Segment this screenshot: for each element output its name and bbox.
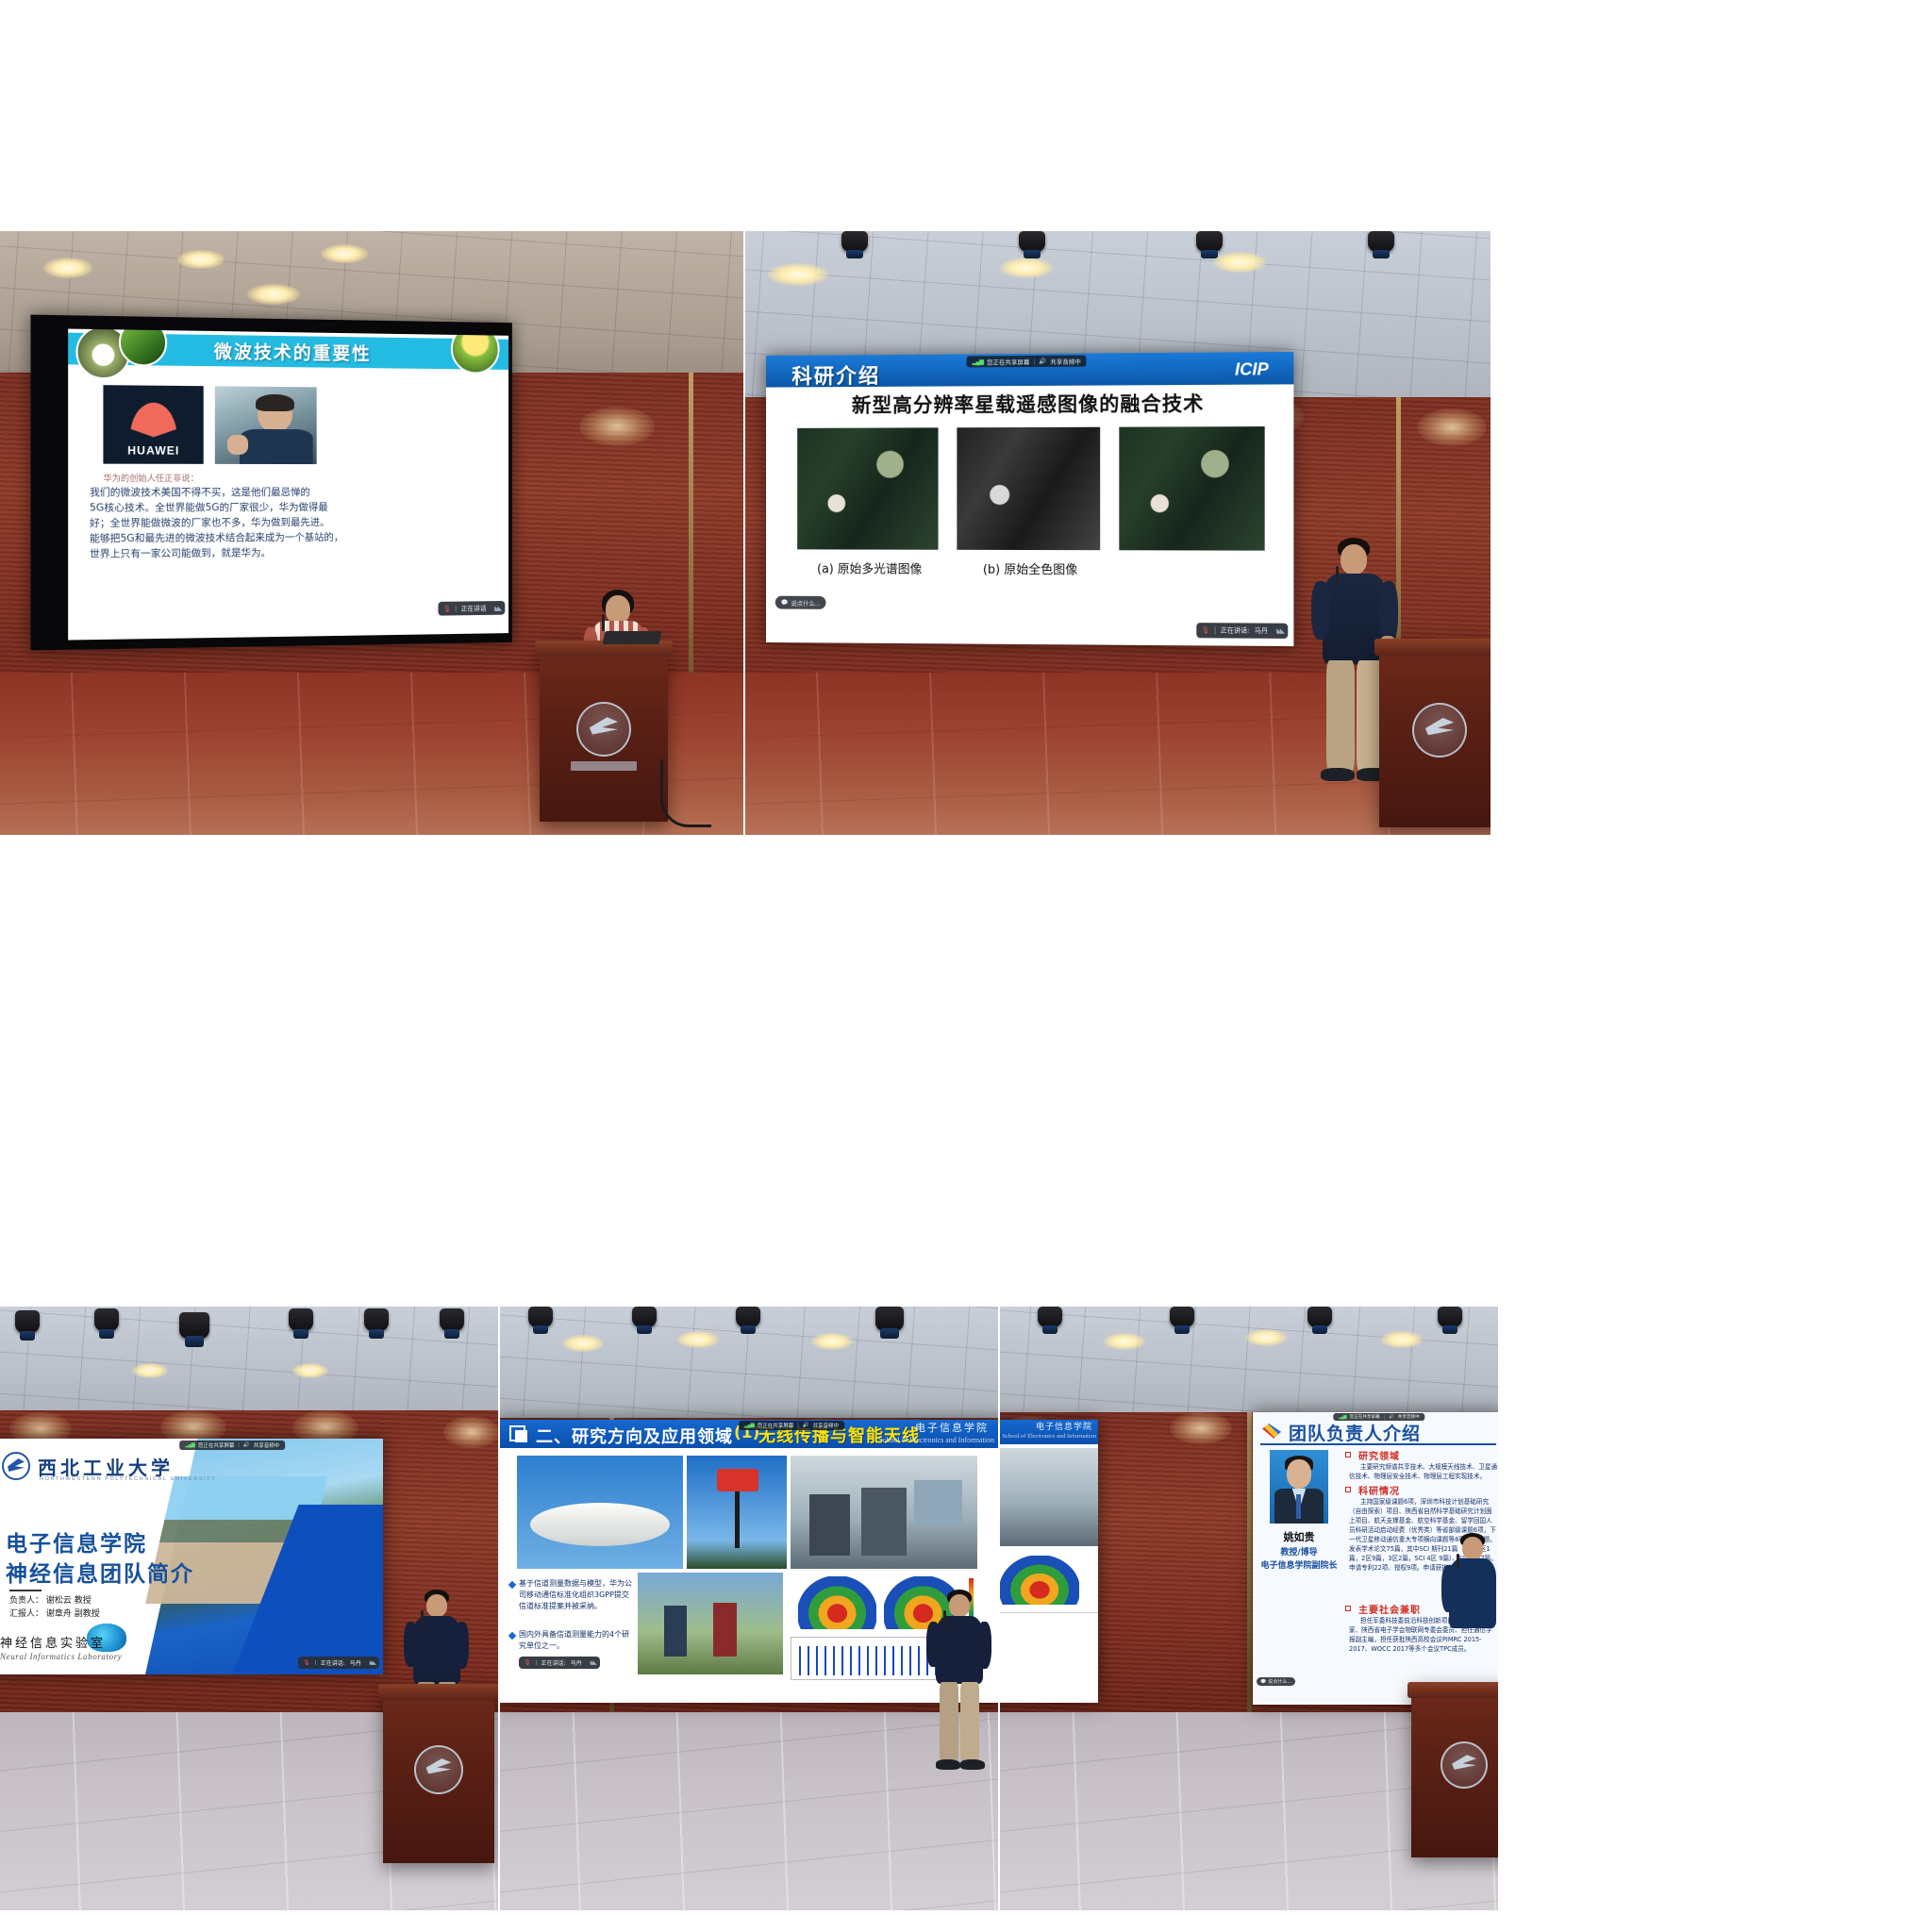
bullet-text-1: 基于信道测量数据与模型，华为公司移动通信标准化组织3GPP提交信道标准提案并被采… [519,1578,634,1612]
slide-research-directions-partial: 电子信息学院 School of Electronics and Informa… [1000,1420,1098,1703]
zoom-share-pill[interactable]: ▂▄▆ 您正在共享屏幕 | 🔊 共享音频中 [739,1421,844,1430]
stage-light-fixture [736,1307,760,1327]
leg-left [940,1682,958,1763]
share-screen-text: 您正在共享屏幕 [987,357,1029,366]
handheld-microphone [1336,566,1339,585]
spectrum-plot [1000,1612,1098,1659]
title-underline [1260,1443,1496,1445]
downlight [247,284,300,305]
audio-wave-icon: ◣◣ [494,604,500,611]
nwpu-eagle-emblem [414,1745,463,1794]
lectern [1411,1682,1498,1857]
divider: | [797,1423,798,1428]
laptop [603,631,662,644]
signal-icon: ▂▄▆ [744,1423,753,1428]
section-heading-3: 主要社会兼职 [1358,1602,1421,1616]
zoom-chat-pill[interactable]: 💬 说点什么... [1257,1677,1295,1686]
huawei-wordmark: HUAWEI [103,443,203,458]
shoe-right [960,1759,985,1770]
person-name: 姚如贵 [1258,1529,1340,1544]
chat-placeholder: 说点什么... [791,598,820,608]
portrait-head [1287,1459,1311,1489]
microphone-icon: 🎙 [524,1659,531,1666]
audio-wave-icon: ◣◣ [370,1659,375,1666]
zoom-share-pill[interactable]: ▂▄▆ 您正在共享屏幕 | 🔊 共享音频中 [967,356,1087,368]
arm-left [1441,1565,1456,1612]
downlight [132,1363,168,1378]
fused-image [1119,426,1264,551]
torso [1449,1558,1496,1628]
org-name-en: School of Electronics and Information [878,1436,994,1444]
leg-left [1326,660,1355,772]
speaker-name: 马丹 [1255,626,1268,636]
handheld-microphone [602,614,605,631]
share-audio-text: 共享音频中 [254,1441,280,1449]
figure-caption-b: (b) 原始全色图像 [953,559,1108,578]
org-name-cn: 电子信息学院 [915,1420,989,1435]
stage-light-fixture [1196,231,1223,252]
projection-screen-secondary: 电子信息学院 School of Electronics and Informa… [1000,1420,1098,1703]
screen-inner: 科研介绍 ICIP ▂▄▆ 您正在共享屏幕 | 🔊 共享音频中 新型高分辨率星载… [766,352,1293,646]
downlight [1245,1329,1287,1346]
stage-light-fixture [632,1307,657,1327]
stage-light-fixture [440,1308,464,1331]
divider: | [1384,1415,1385,1420]
share-screen-text: 您正在共享屏幕 [198,1441,235,1449]
section-bullet [1345,1487,1351,1492]
share-screen-text: 您正在共享屏幕 [758,1422,794,1429]
divider [536,1660,537,1665]
stage-light-fixture [94,1308,119,1331]
nwpu-eagle-emblem [1441,1741,1488,1789]
ribbon-icon [1262,1424,1281,1439]
panel-bottom-middle: 二、研究方向及应用领域 — (1) 无线传播与智能天线 电子信息学院 Schoo… [500,1307,998,1910]
lectern-top [1407,1682,1498,1698]
signal-icon: ▂▄▆ [973,358,984,365]
lectern [540,641,668,822]
projection-screen: 微波技术的重要性 HUAWEI [30,315,511,651]
zoom-share-pill[interactable]: ▂▄▆ 您正在共享屏幕 | 🔊 共享音频中 [180,1441,286,1450]
screen-inner: 电子信息学院 School of Electronics and Informa… [1000,1420,1098,1703]
portrait-suit [240,429,312,464]
chat-bubble-icon: 💬 [1260,1679,1266,1685]
audio-wave-icon: ◣◣ [591,1659,595,1666]
handheld-microphone [421,1610,424,1625]
portrait-tie [1296,1494,1302,1520]
panchromatic-image [957,427,1100,550]
lab-name-cn: 神经信息实验室 [0,1633,106,1651]
lectern-top [1374,639,1491,656]
handheld-microphone [943,1610,946,1625]
slide-body-paragraphs: 我们的微波技术美国不得不买，这是他们最忌惮的 5G核心技术。全世界能做5G的厂家… [90,485,496,562]
shoe-left [936,1759,960,1770]
chat-bubble-icon: 💬 [781,599,789,607]
zoom-speaker-bar[interactable]: 🎙 正在讲话: 马丹 ◣◣ [1196,623,1288,639]
arm-left [404,1622,418,1667]
section-bullet [1345,1452,1351,1457]
panel-bottom-left: 西北工业大学 NORTHWESTERN POLYTECHNICAL UNIVER… [0,1307,498,1910]
arm-left [926,1622,941,1667]
arm-left [1311,581,1330,640]
org-name-cn: 电子信息学院 [1036,1420,1092,1432]
speaker-icon: 🔊 [1039,358,1046,365]
slide-title: 新型高分辨率星载遥感图像的融合技术 [766,388,1293,419]
downlight [1213,252,1266,273]
stage-light-fixture [179,1312,209,1339]
wall-light-glow [1170,1412,1232,1444]
zoom-speaker-bar[interactable]: 🎙 正在讲话 ◣◣ [439,601,505,616]
zoom-speaker-bar[interactable]: 🎙 正在讲话: 马丹 ◣◣ [298,1657,379,1669]
bullet-marker [508,1632,516,1640]
lectern-top [378,1684,498,1700]
downlight [321,244,368,263]
speaker-name: 马丹 [571,1658,582,1667]
zoom-chat-pill[interactable]: 💬 说点什么... [775,596,826,609]
screen-inner: 西北工业大学 NORTHWESTERN POLYTECHNICAL UNIVER… [0,1439,383,1674]
divider [456,606,457,611]
stage-light-fixture [1038,1307,1062,1327]
bullet-text-2: 国内外具备信道测量能力的4个研究单位之一。 [519,1629,634,1652]
slide-team-cover: 西北工业大学 NORTHWESTERN POLYTECHNICAL UNIVER… [0,1439,383,1674]
speaker-icon: 🔊 [243,1442,250,1448]
lectern [383,1684,494,1863]
stage-light-fixture [289,1308,313,1331]
portrait-hair [256,394,294,411]
field-measurement-photo [638,1573,783,1674]
university-name-en: NORTHWESTERN POLYTECHNICAL UNIVERSITY [40,1476,216,1482]
airship-photo [517,1456,683,1569]
section-bullet [1345,1606,1351,1611]
credit-rule [9,1590,42,1591]
handheld-microphone [1457,1554,1459,1568]
divider: | [238,1442,239,1448]
divider [1214,627,1215,634]
speaker-name: 马丹 [350,1658,361,1667]
speaking-label: 正在讲话: [1221,625,1250,635]
lab-rack-2 [861,1488,907,1556]
slides-icon-shadow [515,1430,527,1442]
audio-wave-icon: ◣◣ [1276,627,1283,635]
credit-reporter: 汇报人： 谢章舟 副教授 [9,1607,100,1619]
downlight [177,250,225,269]
torso-polo [413,1616,460,1684]
panel-top-left: 微波技术的重要性 HUAWEI [0,231,743,835]
panel-bottom-right: 电子信息学院 School of Electronics and Informa… [1000,1307,1498,1910]
divider [315,1660,316,1665]
microphone-icon: 🎙 [303,1659,310,1666]
downlight [562,1335,604,1352]
projection-screen: 西北工业大学 NORTHWESTERN POLYTECHNICAL UNIVER… [0,1439,383,1674]
arm-right [977,1622,991,1669]
huawei-logo-image: HUAWEI [103,385,203,464]
slide-research-directions: 二、研究方向及应用领域 — (1) 无线传播与智能天线 电子信息学院 Schoo… [500,1420,998,1703]
stage-light-fixture [364,1308,389,1331]
zoom-speaker-bar[interactable]: 🎙 正在讲话: 马丹 ◣◣ [519,1657,600,1669]
person-field-2 [713,1603,737,1656]
person-role-1: 教授/博导 [1258,1545,1340,1557]
ren-zhengfei-photo [215,386,317,464]
wall-seam [1247,1412,1252,1763]
multispectral-image [797,427,938,549]
anechoic-lab-photo [791,1456,977,1569]
lectern-label [571,761,637,771]
slide-title-line2: 神经信息团队简介 [6,1556,194,1588]
nwpu-logo [2,1452,30,1480]
airship-body [530,1503,670,1546]
slide-header-right: ICIP [1235,359,1269,379]
section-heading-1: 研究领域 [1358,1448,1400,1462]
nwpu-eagle-emblem [1412,703,1467,758]
head [426,1594,447,1617]
shoe-left [1321,768,1355,781]
signal-icon: ▂▄▆ [186,1442,194,1448]
share-audio-text: 共享音频中 [1050,357,1081,366]
radiation-pattern-3d-plot [1000,1552,1098,1608]
slide-header-left: 科研介绍 [791,359,880,390]
presenter-male [926,1590,998,1788]
portrait-hand [227,435,248,455]
head [1462,1537,1483,1559]
head [949,1594,970,1617]
section-body-1: 主要研究频谱共享技术、大规模天线技术、卫星通信技术、物理层安全技术、物理层工程实… [1349,1462,1498,1481]
wall-light-glow [443,1416,498,1448]
microphone-icon: 🎙 [443,605,452,612]
lab-name-en: Neural Informatics Laboratory [0,1652,122,1661]
speaking-label: 正在讲话: [541,1658,566,1667]
torso-polo [936,1616,983,1684]
slide-research-intro: 科研介绍 ICIP ▂▄▆ 您正在共享屏幕 | 🔊 共享音频中 新型高分辨率星载… [766,352,1293,646]
wall-light-glow [579,407,655,446]
speaking-label: 正在讲话: [321,1658,345,1667]
downlight [677,1331,719,1348]
stage-light-fixture [528,1307,553,1327]
chat-placeholder: 说点什么... [1268,1678,1291,1685]
person-field [664,1606,688,1657]
downlight [292,1363,328,1378]
downlight [1104,1333,1145,1350]
downlight [1000,258,1053,278]
pattern-left [798,1576,876,1629]
photo-collage: 微波技术的重要性 HUAWEI [0,0,1932,1932]
lectern [1379,639,1491,827]
speaking-label: 正在讲话 [461,604,487,613]
leg-right [960,1682,979,1763]
arm-right [1379,581,1398,643]
stage-floor [500,1712,998,1910]
downlight [768,263,828,286]
stage-light-fixture [1170,1307,1194,1327]
slide-microwave-importance: 微波技术的重要性 HUAWEI [68,329,508,641]
slide-title-line1: 电子信息学院 [6,1525,147,1557]
share-audio-text: 共享音频中 [813,1422,840,1429]
panel-top-right: 科研介绍 ICIP ▂▄▆ 您正在共享屏幕 | 🔊 共享音频中 新型高分辨率星载… [745,231,1491,835]
bullet-marker [508,1581,516,1589]
anechoic-lab-photo [1000,1448,1098,1546]
screen-inner: 二、研究方向及应用领域 — (1) 无线传播与智能天线 电子信息学院 Schoo… [500,1420,998,1703]
microphone-icon: 🎙 [1201,626,1209,634]
huawei-petal-mark [124,393,183,438]
divider: | [1033,358,1035,364]
slide-header-main: 二、研究方向及应用领域 [536,1424,733,1448]
projection-screen: 科研介绍 ICIP ▂▄▆ 您正在共享屏幕 | 🔊 共享音频中 新型高分辨率星载… [766,352,1293,646]
head [1341,544,1367,575]
power-cable [660,759,711,827]
head [606,595,630,624]
stage-light-fixture [1019,231,1045,252]
slide-body-heading: 华为的创始人任正非说： [103,472,198,484]
projection-screen: 二、研究方向及应用领域 — (1) 无线传播与智能天线 电子信息学院 Schoo… [500,1420,998,1703]
speaker-icon: 🔊 [803,1423,809,1428]
stage-light-fixture [875,1307,904,1331]
antenna-head [717,1469,759,1491]
stage-light-fixture [1438,1307,1462,1327]
stage-light-fixture [841,231,868,252]
downlight [43,258,92,278]
wall-light-glow [1417,408,1487,446]
nwpu-eagle-emblem [576,702,631,757]
figure-caption-a: (a) 原始多光谱图像 [793,558,945,576]
person-role-2: 电子信息学院副院长 [1255,1558,1343,1571]
stage-light-fixture [1307,1307,1332,1327]
section-heading-2: 科研情况 [1358,1483,1400,1497]
downlight [1381,1331,1423,1348]
lab-panel [914,1480,962,1525]
antenna-mast-photo [687,1456,787,1569]
credit-owner: 负责人： 谢松云 教授 [9,1593,92,1606]
stage-light-fixture [15,1310,40,1333]
lab-rack [809,1494,851,1556]
screen-inner: 微波技术的重要性 HUAWEI [30,315,511,651]
downlight [811,1333,853,1350]
portrait-photo [1270,1450,1328,1524]
slide-title: 团队负责人介绍 [1289,1420,1421,1445]
slide-header-dash: — [717,1425,731,1442]
stage-light-fixture [1368,231,1394,252]
pattern-right [1000,1556,1079,1606]
arm-right [455,1622,469,1669]
org-name-en: School of Electronics and Information [1002,1433,1096,1440]
